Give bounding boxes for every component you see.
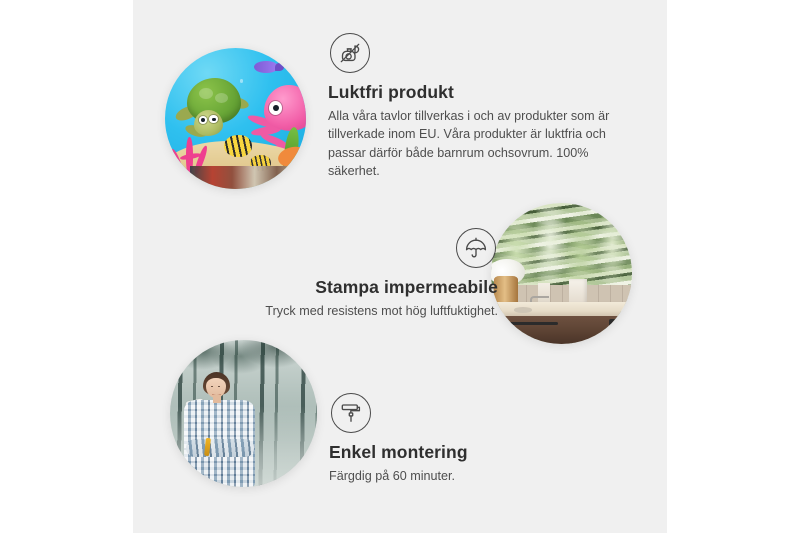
feature-description: Tryck med resistens mot hög luftfuktighe… xyxy=(153,302,498,320)
underwater-scene xyxy=(165,48,306,189)
bathroom-botanical-photo xyxy=(491,203,632,344)
woman-paint-roller-photo xyxy=(170,340,317,487)
screenshot-stage: Luktfri produkt Alla våra tavlor tillver… xyxy=(0,0,800,533)
underwater-cartoon-photo xyxy=(165,48,306,189)
feature-waterproof-print: Stampa impermeabile Tryck med resistens … xyxy=(153,228,498,320)
feature-title: Luktfri produkt xyxy=(328,82,628,103)
paint-roller-icon xyxy=(331,393,371,433)
umbrella-icon xyxy=(456,228,496,268)
wooden-vanity-cabinet xyxy=(491,316,632,344)
photo-bottom-strip xyxy=(190,166,306,189)
soap-dish xyxy=(514,307,532,313)
woman-figure xyxy=(179,372,270,487)
content-panel: Luktfri produkt Alla våra tavlor tillver… xyxy=(133,0,667,533)
neck xyxy=(213,395,221,403)
feature-title: Enkel montering xyxy=(329,442,629,463)
crossed-arms xyxy=(186,439,253,457)
feature-description: Färgdig på 60 minuter. xyxy=(329,467,629,485)
feature-odour-free: Luktfri produkt Alla våra tavlor tillver… xyxy=(328,33,628,180)
forest-scene xyxy=(170,340,317,487)
feature-description: Alla våra tavlor tillverkas i och av pro… xyxy=(328,107,628,180)
yellow-fish-icon xyxy=(224,135,252,156)
no-smell-icon xyxy=(330,33,370,73)
feature-title: Stampa impermeabile xyxy=(153,277,498,298)
purple-fish-icon xyxy=(254,61,278,74)
sea-turtle-icon xyxy=(175,78,248,140)
bathroom-scene xyxy=(491,203,632,344)
feature-easy-mounting: Enkel montering Färgdig på 60 minuter. xyxy=(329,393,629,485)
